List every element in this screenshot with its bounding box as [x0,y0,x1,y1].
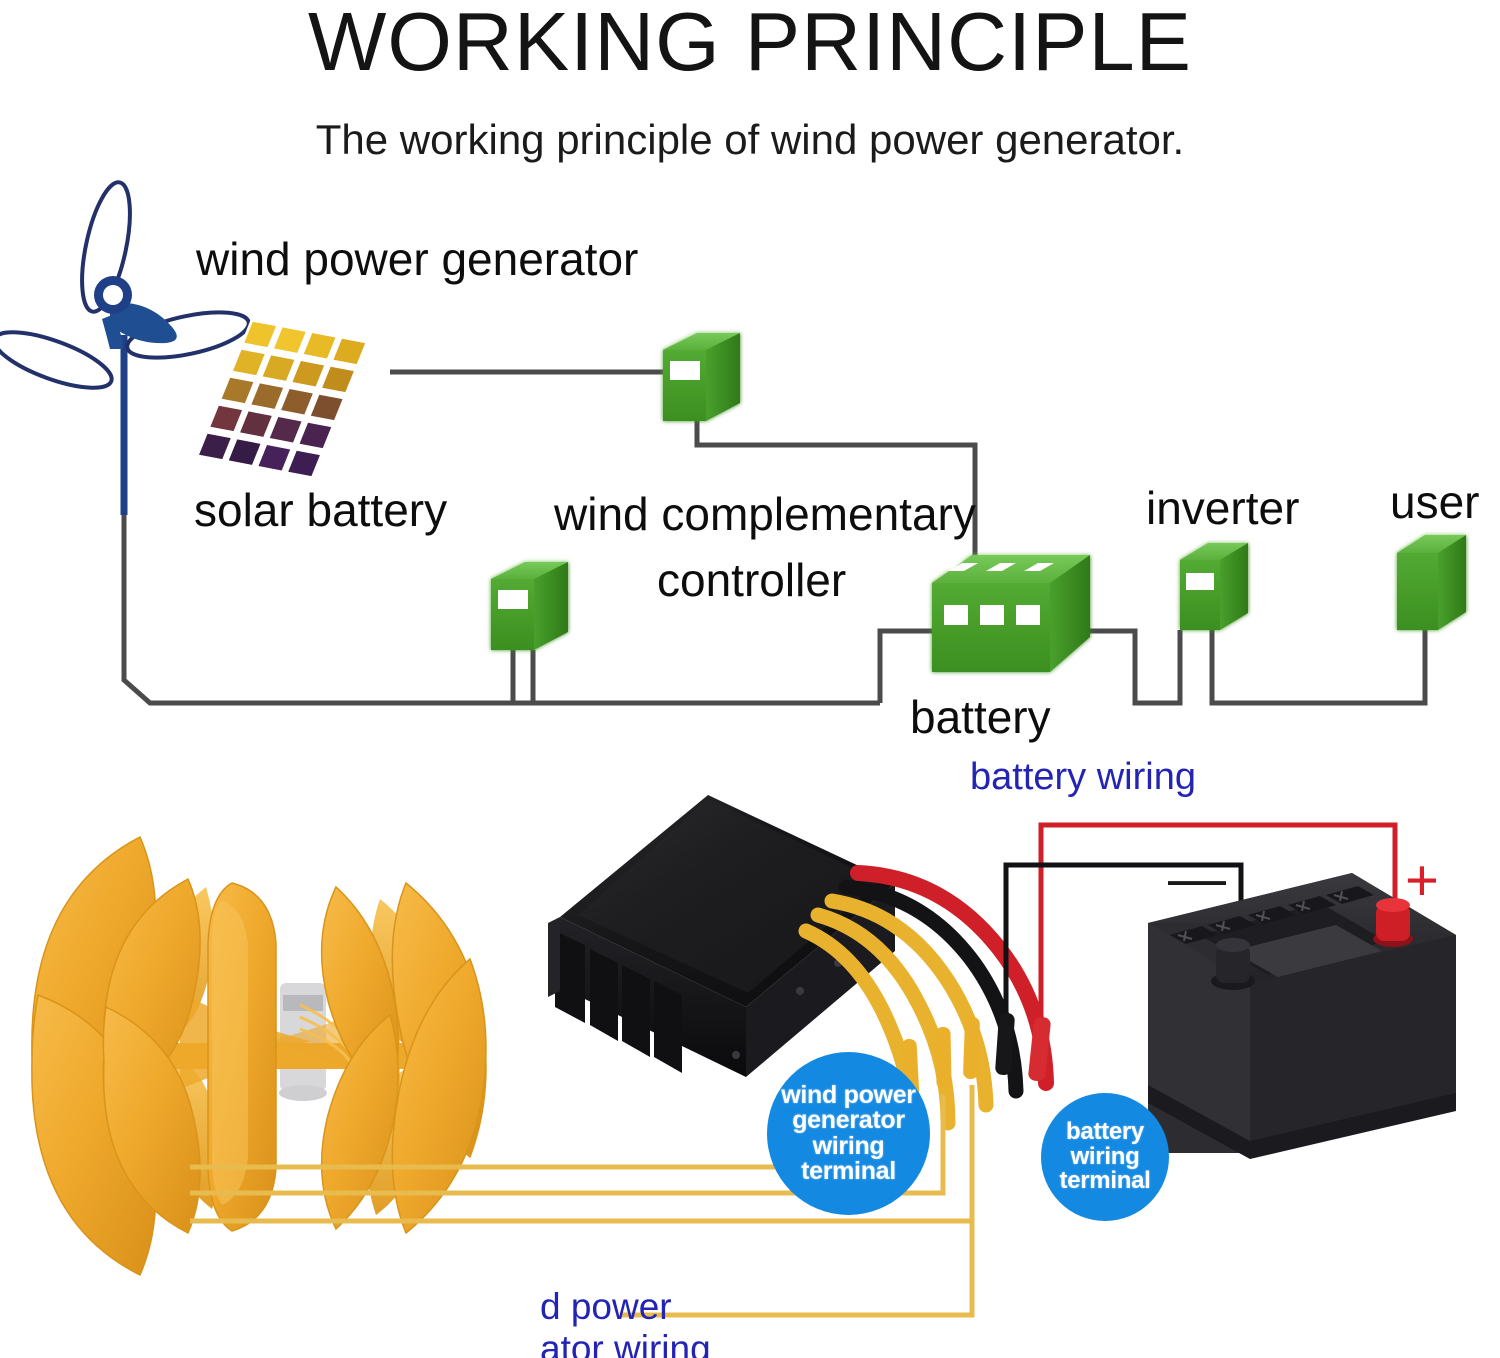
label-generator-wiring-line1: d power [540,1286,672,1329]
battery-terminal-badge: battery wiring terminal [1041,1093,1169,1221]
label-solar-battery: solar battery [194,483,447,537]
photos-svg [0,755,1500,1358]
label-generator-wiring-line2: ator wiring [540,1328,711,1358]
wire-battery-to-inverter [1090,630,1180,703]
system-diagram: wind power generator solar battery wind … [0,175,1500,760]
charge-controller-photo [548,795,895,1077]
vertical-axis-wind-turbine-photo [32,837,486,1275]
product-photo-section: wind power generator wiring terminal bat… [0,755,1500,1358]
label-controller: controller [657,553,846,607]
battery-icon [932,555,1090,672]
inverter-icon [1180,543,1248,630]
car-battery-photo [1148,873,1456,1159]
negative-sign: — [1168,850,1226,908]
charge-controller-box-bottom [491,562,568,650]
label-battery: battery [910,690,1051,744]
wind-generator-terminal-badge: wind power generator wiring terminal [767,1052,930,1215]
page-subtitle: The working principle of wind power gene… [0,116,1500,164]
label-wind-power-generator: wind power generator [196,232,638,286]
label-user: user [1390,475,1479,529]
page-title: WORKING PRINCIPLE [0,0,1500,90]
battery-negative-terminal [1211,938,1255,990]
label-inverter: inverter [1146,481,1299,535]
label-wind-complementary: wind complementary [554,487,976,541]
working-principle-page: WORKING PRINCIPLE The working principle … [0,0,1500,1358]
positive-sign: + [1405,852,1439,910]
label-battery-wiring: battery wiring [970,756,1196,799]
user-icon [1397,535,1466,630]
wire-inverter-to-user [1212,630,1425,703]
wind-turbine-icon [0,178,253,515]
charge-controller-box-top [663,333,740,421]
